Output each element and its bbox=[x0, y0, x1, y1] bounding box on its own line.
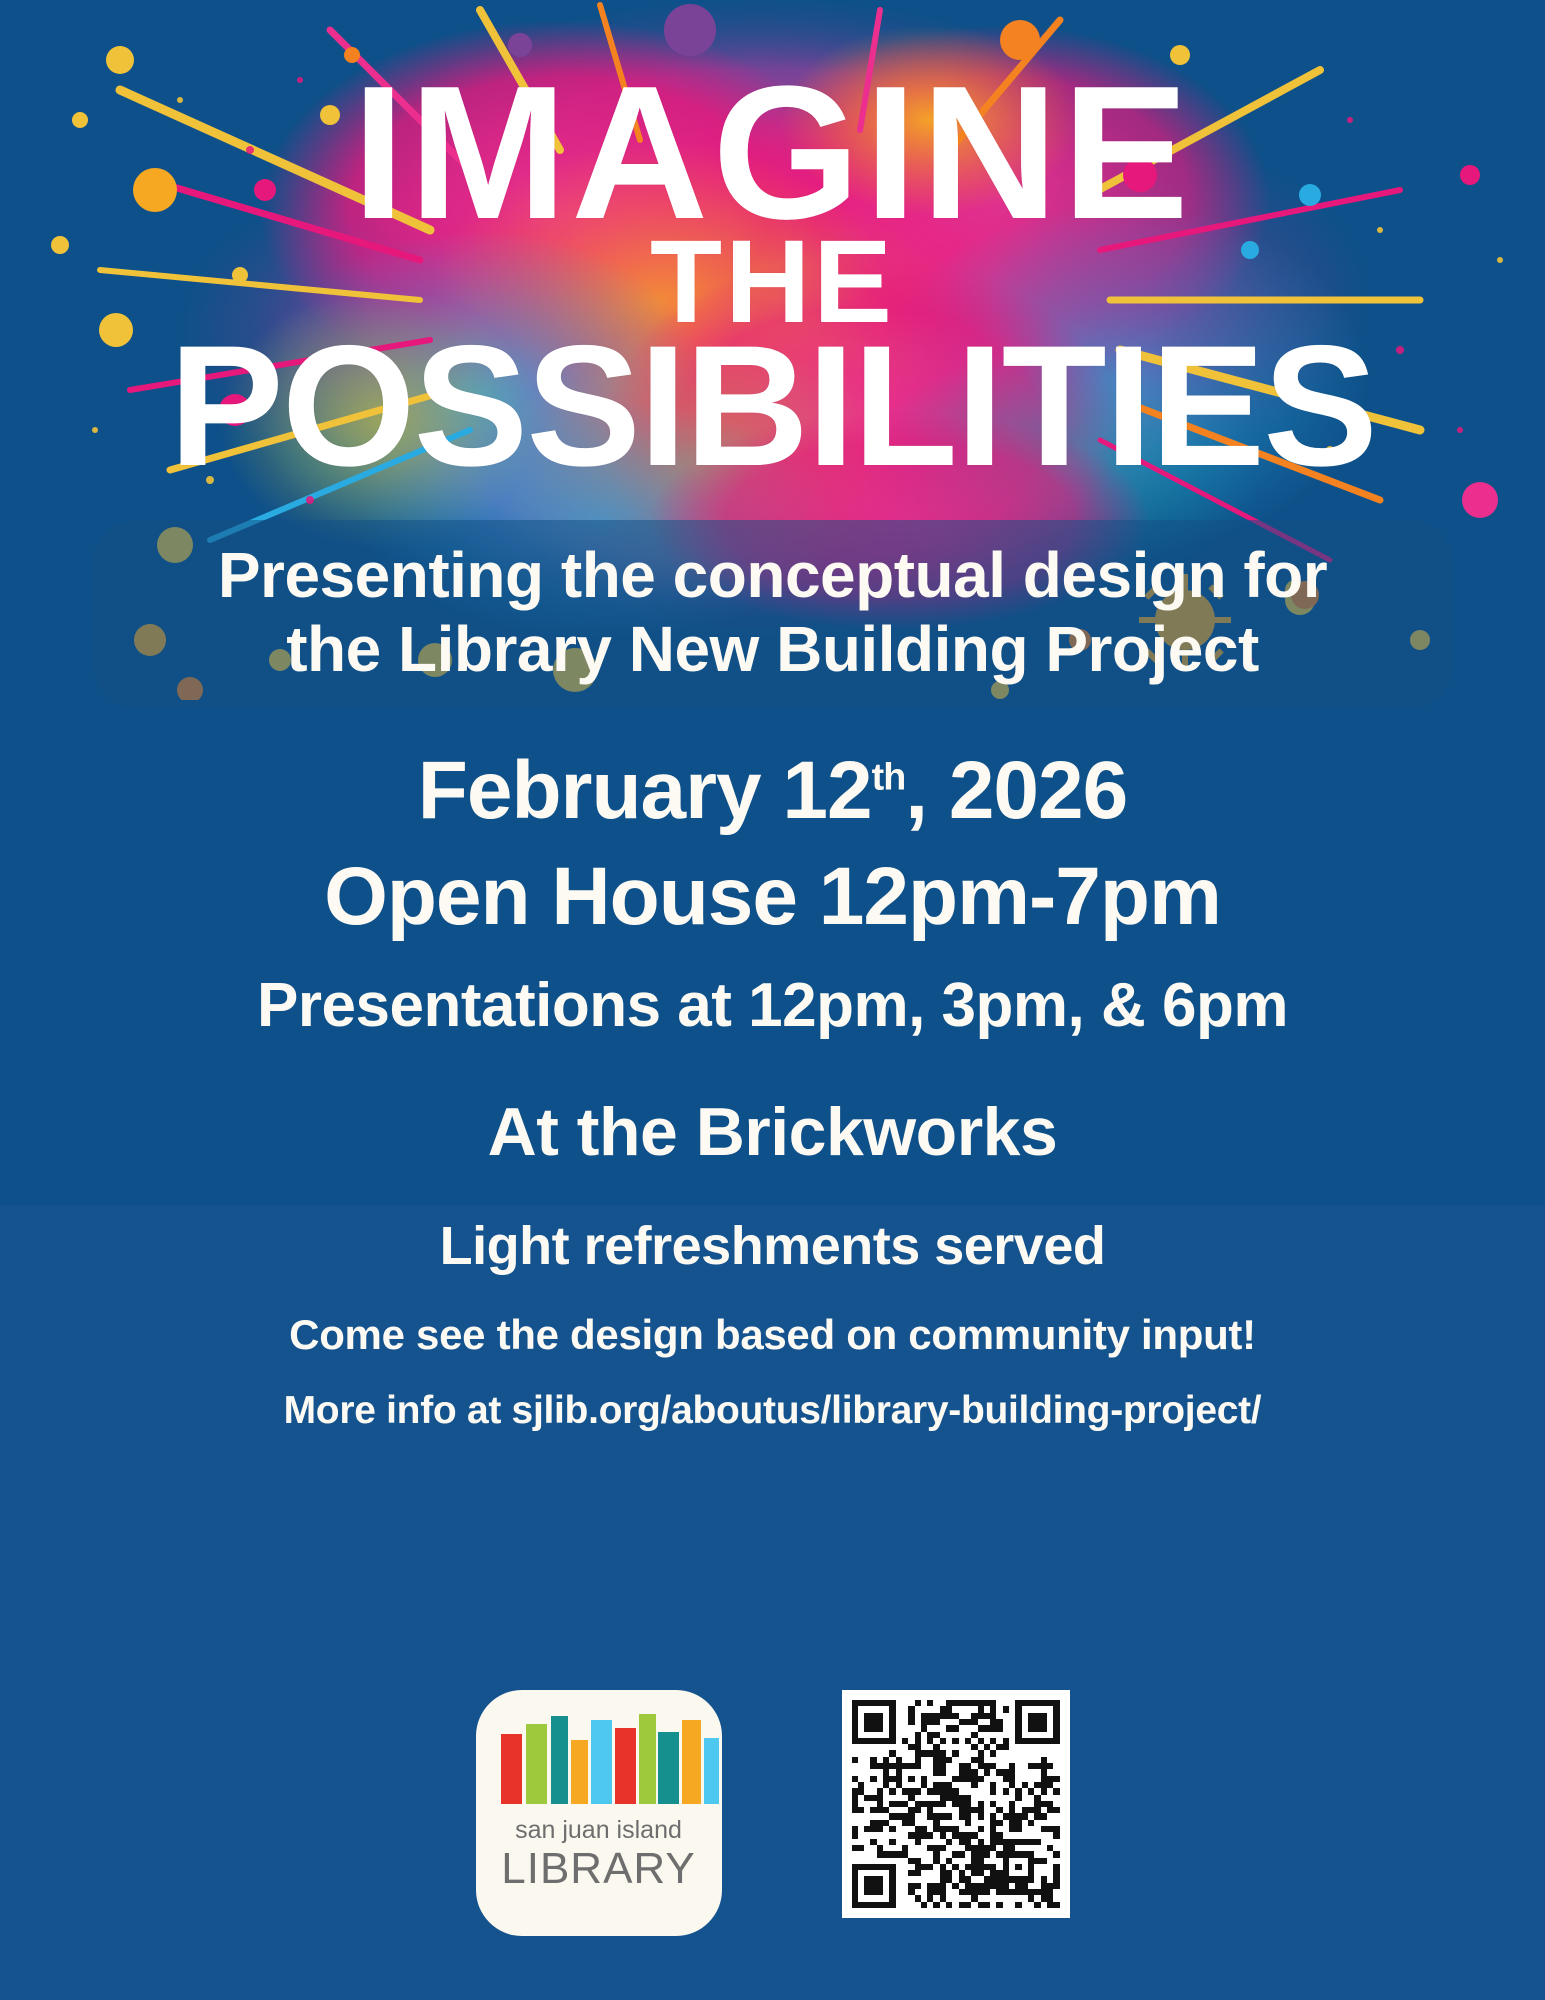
book-spine bbox=[501, 1734, 522, 1804]
poster-footer: san juan island LIBRARY bbox=[0, 1690, 1545, 1936]
qr-module bbox=[1053, 1902, 1059, 1908]
poster-body-copy: Presenting the conceptual design for the… bbox=[0, 520, 1545, 1433]
headline-line-imagine: IMAGINE bbox=[0, 70, 1545, 237]
headline-line-possibilities: POSSIBILITIES bbox=[0, 331, 1545, 482]
book-spine bbox=[704, 1738, 719, 1804]
poster-canvas: IMAGINE THE POSSIBILITIES Presenting the… bbox=[0, 0, 1545, 2000]
book-spine bbox=[615, 1728, 636, 1804]
event-date: February 12th, 2026 bbox=[0, 744, 1545, 838]
open-house-hours: Open House 12pm-7pm bbox=[0, 850, 1545, 944]
library-logo: san juan island LIBRARY bbox=[476, 1690, 722, 1936]
more-info-url[interactable]: More info at sjlib.org/aboutus/library-b… bbox=[0, 1389, 1545, 1433]
book-spine bbox=[682, 1720, 701, 1804]
book-spine bbox=[571, 1740, 588, 1804]
refreshments-note: Light refreshments served bbox=[0, 1215, 1545, 1277]
subhead-line-1: Presenting the conceptual design for bbox=[103, 538, 1443, 612]
book-spine bbox=[591, 1720, 612, 1804]
presentation-times: Presentations at 12pm, 3pm, & 6pm bbox=[0, 970, 1545, 1041]
qr-code[interactable] bbox=[842, 1690, 1070, 1918]
event-date-year: , 2026 bbox=[905, 745, 1127, 836]
book-spine bbox=[639, 1714, 656, 1804]
logo-title: LIBRARY bbox=[501, 1847, 696, 1891]
book-spine bbox=[526, 1724, 547, 1804]
subhead-panel: Presenting the conceptual design for the… bbox=[93, 520, 1453, 708]
book-spine bbox=[658, 1732, 679, 1804]
event-date-ordinal: th bbox=[872, 756, 906, 798]
logo-books-icon bbox=[501, 1712, 697, 1804]
event-venue: At the Brickworks bbox=[0, 1093, 1545, 1171]
poster-headline: IMAGINE THE POSSIBILITIES bbox=[0, 70, 1545, 482]
logo-subtitle: san juan island bbox=[515, 1816, 682, 1845]
book-spine bbox=[551, 1716, 568, 1804]
community-input-note: Come see the design based on community i… bbox=[0, 1311, 1545, 1359]
subhead-line-2: the Library New Building Project bbox=[103, 612, 1443, 686]
event-date-monthday: February 12 bbox=[418, 745, 872, 836]
